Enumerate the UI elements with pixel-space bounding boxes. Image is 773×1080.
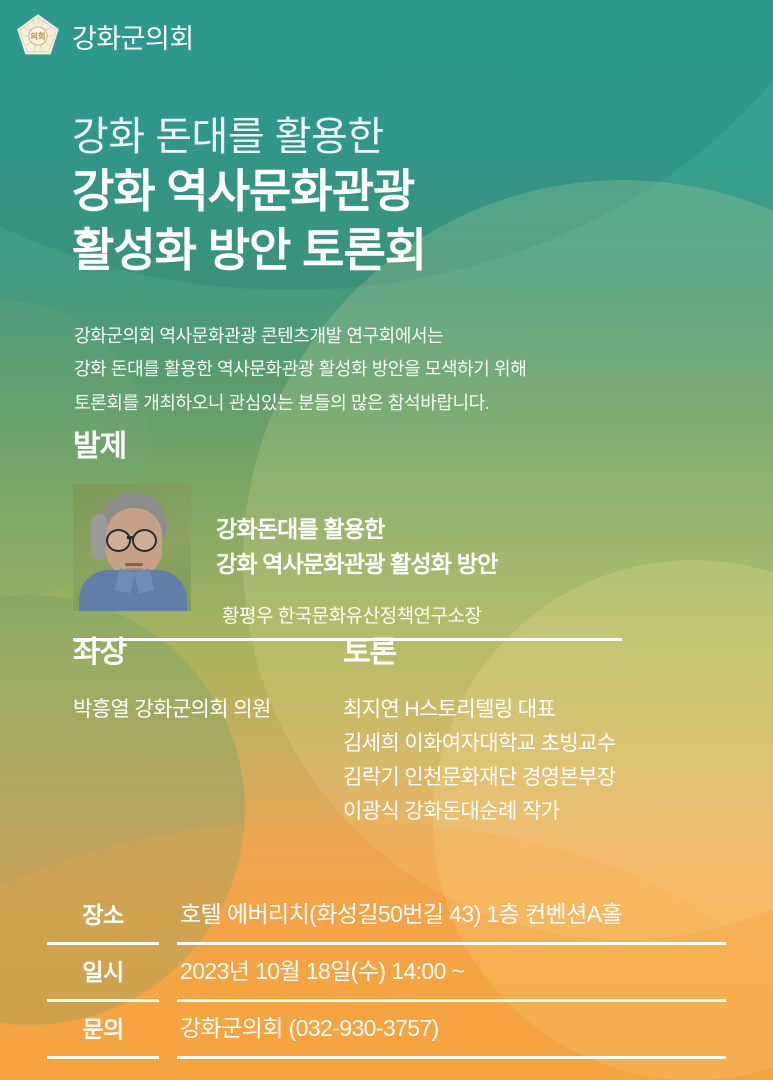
info-value-contact: 강화군의회 (032-930-3757) (180, 1009, 439, 1043)
presentation-topic-line-2: 강화 역사문화관광 활성화 방안 (216, 547, 497, 582)
info-row-datetime: 일시 2023년 10월 18일(수) 14:00 ~ (0, 945, 773, 1002)
info-divider-left (47, 1056, 159, 1059)
info-label-venue: 장소 (47, 896, 159, 930)
description-line-2: 강화 돈대를 활용한 역사문화관광 활성화 방안을 모색하기 위해 (74, 353, 526, 386)
info-label-datetime: 일시 (47, 953, 159, 987)
description-line-1: 강화군의회 역사문화관광 콘텐츠개발 연구회에서는 (74, 320, 526, 353)
discussion-list: 최지연 H스토리텔링 대표 김세희 이화여자대학교 초빙교수 김락기 인천문화재… (343, 693, 673, 829)
event-info: 장소 호텔 에버리치(화성길50번길 43) 1층 컨벤션A홀 일시 2023년… (0, 888, 773, 1059)
info-row-contact: 문의 강화군의회 (032-930-3757) (0, 1002, 773, 1059)
info-divider-right (177, 1056, 726, 1059)
poster-description: 강화군의회 역사문화관광 콘텐츠개발 연구회에서는 강화 돈대를 활용한 역사문… (74, 320, 526, 420)
assembly-emblem-icon: 의회 (14, 12, 62, 60)
presentation-section: 발제 강화돈대를 활용한 강화 역사문화관광 활성화 방안 황평우 한국문화유산… (73, 432, 633, 641)
info-label-contact: 문의 (47, 1010, 159, 1044)
info-row-venue: 장소 호텔 에버리치(화성길50번길 43) 1층 컨벤션A홀 (0, 888, 773, 945)
poster-canvas: 의회 강화군의회 강화 돈대를 활용한 강화 역사문화관광 활성화 방안 토론회… (0, 0, 773, 1080)
title-line-1: 강화 돈대를 활용한 (72, 112, 426, 162)
poster-header: 의회 강화군의회 (14, 12, 194, 60)
organization-name: 강화군의회 (72, 17, 194, 56)
discussion-member: 김세희 이화여자대학교 초빙교수 (343, 727, 673, 761)
emblem-label: 의회 (30, 31, 45, 41)
discussion-heading: 토론 (343, 638, 673, 668)
title-line-2: 강화 역사문화관광 (72, 162, 426, 221)
info-value-venue: 호텔 에버리치(화성길50번길 43) 1층 컨벤션A홀 (180, 895, 622, 929)
description-line-3: 토론회를 개최하오니 관심있는 분들의 많은 참석바랍니다. (74, 387, 526, 420)
title-line-3: 활성화 방안 토론회 (72, 221, 426, 280)
chair-heading: 좌장 (73, 638, 343, 668)
presentation-heading: 발제 (73, 432, 633, 462)
presentation-topic-line-1: 강화돈대를 활용한 (216, 512, 497, 547)
discussion-column: 토론 최지연 H스토리텔링 대표 김세희 이화여자대학교 초빙교수 김락기 인천… (343, 638, 673, 829)
panel-section: 좌장 박흥열 강화군의회 의원 토론 최지연 H스토리텔링 대표 김세희 이화여… (73, 638, 673, 829)
poster-title: 강화 돈대를 활용한 강화 역사문화관광 활성화 방안 토론회 (72, 112, 426, 280)
discussion-member: 최지연 H스토리텔링 대표 (343, 693, 673, 727)
chair-member: 박흥열 강화군의회 의원 (73, 693, 343, 727)
presenter-name: 황평우 한국문화유산정책연구소장 (222, 601, 497, 628)
discussion-member: 이광식 강화돈대순례 작가 (343, 795, 673, 829)
discussion-member: 김락기 인천문화재단 경영본부장 (343, 761, 673, 795)
info-value-datetime: 2023년 10월 18일(수) 14:00 ~ (180, 952, 464, 986)
chair-column: 좌장 박흥열 강화군의회 의원 (73, 638, 343, 829)
presenter-photo (73, 484, 191, 611)
chair-list: 박흥열 강화군의회 의원 (73, 693, 343, 727)
